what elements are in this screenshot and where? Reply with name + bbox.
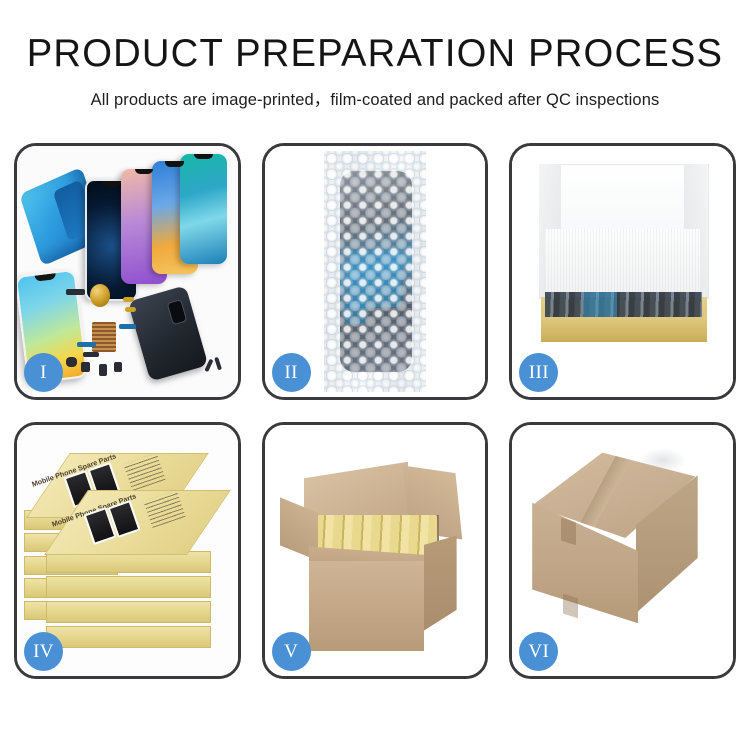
phone-screen-icon xyxy=(180,154,226,264)
kraft-box-edge xyxy=(46,601,211,623)
step-panel-ii: II xyxy=(262,143,489,400)
step-panel-vi: VI xyxy=(509,422,736,679)
step-panel-iv: Mobile Phone Spare Parts Mobile Phone Sp… xyxy=(14,422,241,679)
page-header: PRODUCT PREPARATION PROCESS All products… xyxy=(0,0,750,110)
carton-front-face xyxy=(309,561,424,651)
small-part-icon xyxy=(99,364,108,375)
small-part-icon xyxy=(114,362,122,372)
button-part-icon xyxy=(66,357,77,367)
step-panel-v: V xyxy=(262,422,489,679)
chip-part-icon xyxy=(92,322,116,352)
bubble-wrap-icon xyxy=(324,151,426,392)
packed-screens-icon xyxy=(545,292,702,317)
foam-lining-icon xyxy=(545,229,699,299)
step-panel-iii: III xyxy=(509,143,736,400)
gold-contact-icon xyxy=(125,307,136,312)
page-subtitle: All products are image-printed，film-coat… xyxy=(0,86,750,110)
kraft-box-edge xyxy=(46,576,211,598)
process-steps-grid: I II III xyxy=(14,143,736,679)
kraft-box-edge xyxy=(46,626,211,648)
step-badge-v: V xyxy=(272,632,311,671)
flex-cable-icon xyxy=(77,342,97,347)
small-part-icon xyxy=(83,352,98,357)
kraft-box-side xyxy=(541,317,707,342)
step-badge-ii: II xyxy=(272,353,311,392)
speaker-part-icon xyxy=(66,289,86,295)
step-badge-iv: IV xyxy=(24,632,63,671)
flex-cable-icon xyxy=(119,324,137,329)
gold-contact-icon xyxy=(123,297,134,302)
page-title: PRODUCT PREPARATION PROCESS xyxy=(8,34,743,75)
step-badge-i: I xyxy=(24,353,63,392)
carton-handle-tab xyxy=(563,593,578,618)
step-panel-i: I xyxy=(14,143,241,400)
coil-part-icon xyxy=(90,284,110,307)
small-part-icon xyxy=(81,362,90,372)
